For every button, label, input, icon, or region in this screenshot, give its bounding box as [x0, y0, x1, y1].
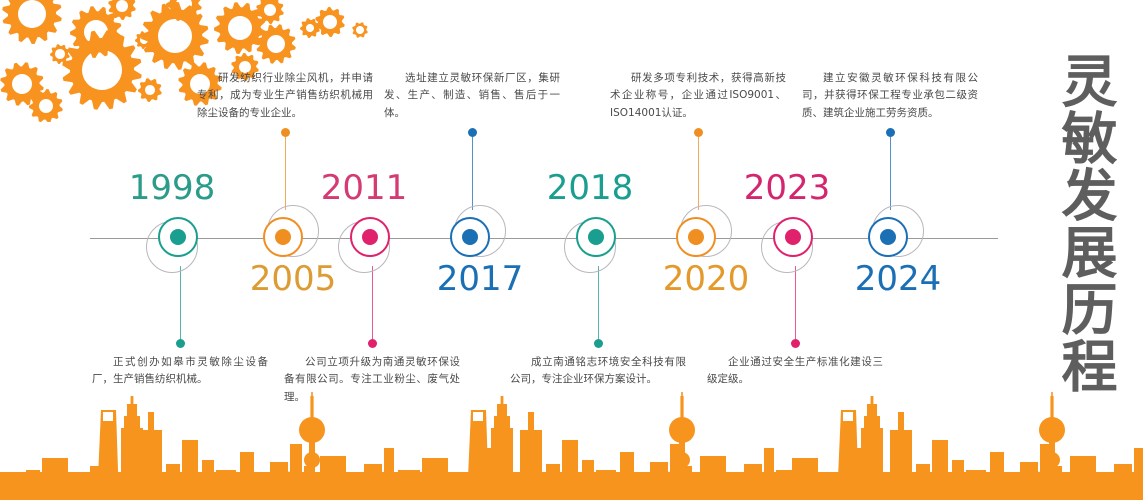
milestone-description-2005: 研发纺织行业除尘风机，并申请专利，成为专业生产销售纺织机械用除尘设备的专业企业。	[197, 70, 373, 122]
milestone-year-2023: 2023	[744, 168, 831, 208]
milestone-stem-2024	[890, 132, 891, 210]
node-core-dot	[362, 229, 378, 245]
node-core-dot	[275, 229, 291, 245]
milestone-stem-2011	[372, 266, 373, 344]
node-core-dot	[688, 229, 704, 245]
milestone-stem-1998	[180, 266, 181, 344]
city-skyline-decoration	[0, 392, 1143, 500]
milestone-stem-2018	[598, 266, 599, 344]
timeline-infographic: 1998正式创办如皋市灵敏除尘设备厂，生产销售纺织机械。2005研发纺织行业除尘…	[0, 0, 1143, 500]
milestone-year-2011: 2011	[321, 168, 408, 208]
milestone-year-2024: 2024	[855, 259, 942, 299]
milestone-node-2023[interactable]	[767, 211, 823, 267]
milestone-node-1998[interactable]	[152, 211, 208, 267]
milestone-description-2020: 研发多项专利技术，获得高新技术企业称号，企业通过ISO9001、ISO14001…	[610, 70, 786, 122]
milestone-stem-2017	[472, 132, 473, 210]
node-core-dot	[588, 229, 604, 245]
node-core-dot	[462, 229, 478, 245]
milestone-stem-2023	[795, 266, 796, 344]
milestone-year-2018: 2018	[547, 168, 634, 208]
milestone-year-2017: 2017	[437, 259, 524, 299]
milestone-description-2018: 成立南通铭志环境安全科技有限公司，专注企业环保方案设计。	[510, 354, 686, 389]
node-core-dot	[785, 229, 801, 245]
node-core-dot	[170, 229, 186, 245]
milestone-description-2024: 建立安徽灵敏环保科技有限公司，并获得环保工程专业承包二级资质、建筑企业施工劳务资…	[802, 70, 978, 122]
milestone-description-2017: 选址建立灵敏环保新厂区，集研发、生产、制造、销售、售后于一体。	[384, 70, 560, 122]
milestone-node-2018[interactable]	[570, 211, 626, 267]
milestone-description-1998: 正式创办如皋市灵敏除尘设备厂，生产销售纺织机械。	[92, 354, 268, 389]
milestone-description-2011: 公司立项升级为南通灵敏环保设备有限公司。专注工业粉尘、废气处理。	[284, 354, 460, 406]
page-title: 灵敏发展历程	[1041, 52, 1113, 394]
milestone-stem-2020	[698, 132, 699, 210]
milestone-year-2005: 2005	[250, 259, 337, 299]
milestone-description-2023: 企业通过安全生产标准化建设三级定级。	[707, 354, 883, 389]
milestone-node-2011[interactable]	[344, 211, 400, 267]
node-core-dot	[880, 229, 896, 245]
milestone-year-2020: 2020	[663, 259, 750, 299]
milestone-stem-2005	[285, 132, 286, 210]
milestone-year-1998: 1998	[129, 168, 216, 208]
